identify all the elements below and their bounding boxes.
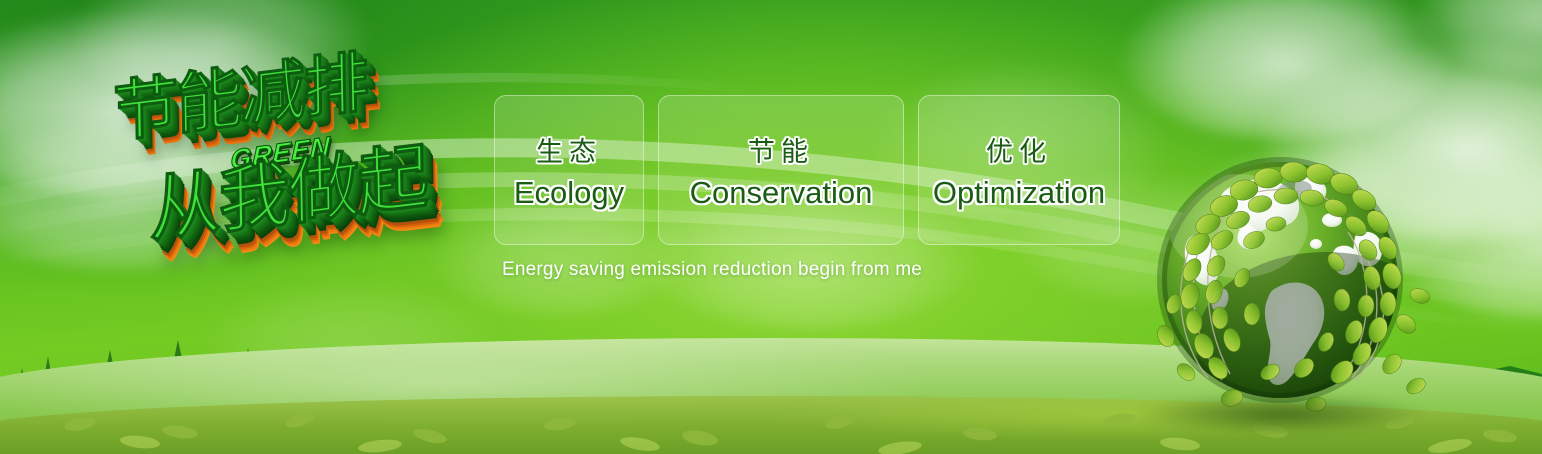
- headline-logo: 节能减排 GREEN 从我做起: [100, 42, 490, 270]
- feature-card-conservation[interactable]: 节能 Conservation: [658, 95, 904, 245]
- feature-card-title-cn: 生态: [536, 130, 602, 169]
- globe-icon: [1130, 128, 1430, 428]
- tagline-text: Energy saving emission reduction begin f…: [502, 259, 922, 281]
- globe-shadow: [1136, 394, 1426, 434]
- leaf-globe-graphic: [1130, 128, 1430, 428]
- feature-card-optimization[interactable]: 优化 Optimization: [918, 95, 1120, 245]
- feature-card-title-en: Conservation: [690, 175, 873, 211]
- feature-card-title-cn: 节能: [748, 130, 814, 169]
- feature-card-title-en: Optimization: [933, 175, 1105, 211]
- eco-banner: 节能减排 GREEN 从我做起 生态 Ecology 节能 Conservati…: [0, 0, 1542, 454]
- feature-card-ecology[interactable]: 生态 Ecology: [494, 95, 644, 245]
- feature-card-group: 生态 Ecology 节能 Conservation 优化 Optimizati…: [494, 95, 1120, 245]
- feature-card-title-en: Ecology: [514, 175, 624, 211]
- feature-card-title-cn: 优化: [986, 130, 1052, 169]
